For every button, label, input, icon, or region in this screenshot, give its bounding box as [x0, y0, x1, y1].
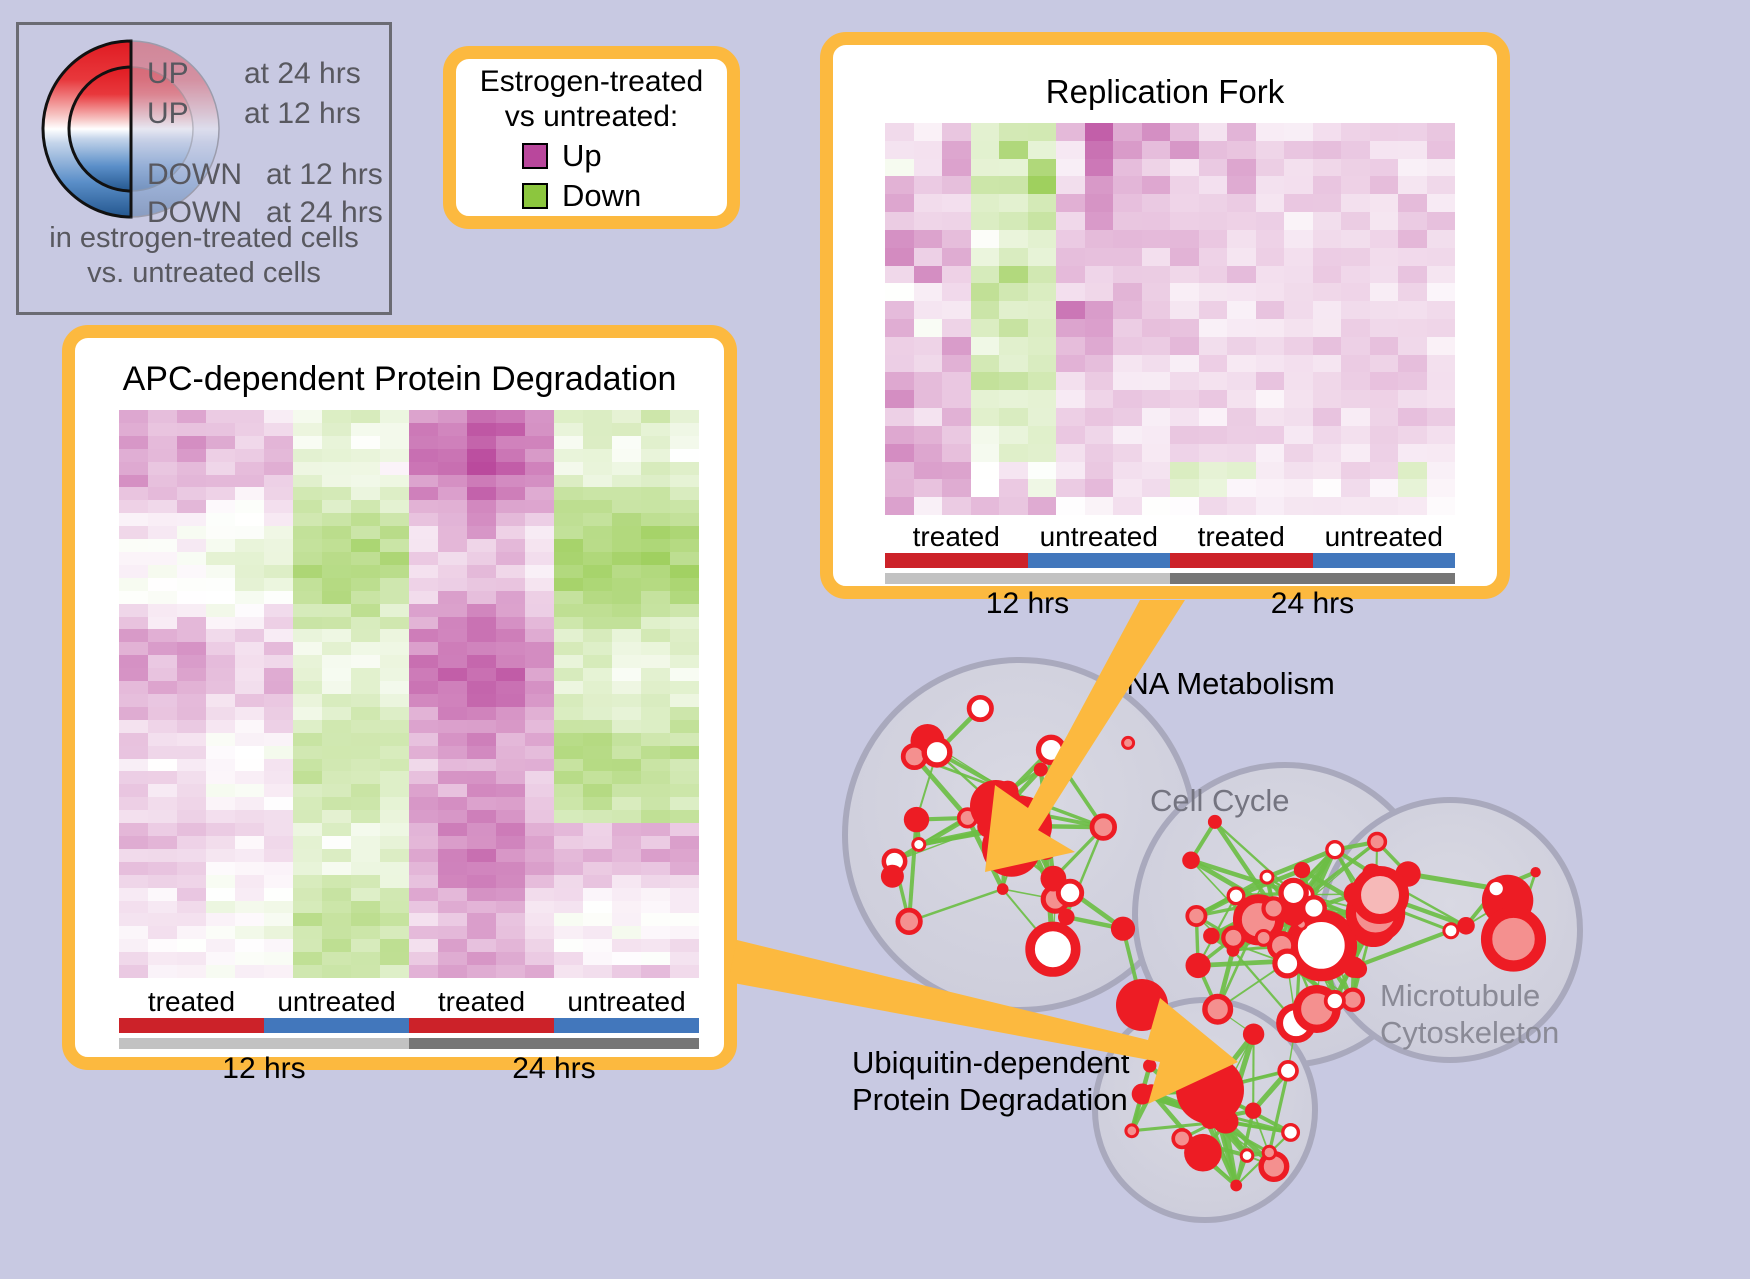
- up-color-swatch: [522, 143, 548, 169]
- down-color-swatch: [522, 183, 548, 209]
- ub-label-line2: Protein Degradation: [852, 1082, 1130, 1119]
- apc-time-colorbar: [119, 1038, 699, 1049]
- apc-panel: APC-dependent Protein Degradation treate…: [62, 325, 737, 1070]
- key-label-down: Down: [562, 178, 641, 214]
- nested-circle-color-legend: [41, 39, 221, 219]
- key-item-down: Down: [522, 178, 641, 214]
- key-label-up: Up: [562, 138, 602, 174]
- apc-group-label-1: untreated: [264, 986, 409, 1018]
- cluster-label-ubiquitin-protein-degradation: Ubiquitin-dependent Protein Degradation: [852, 1045, 1130, 1118]
- rf-time-label-24: 24 hrs: [1170, 587, 1455, 621]
- rf-bar-untreated-24: [1313, 553, 1456, 568]
- apc-bar-treated-12: [119, 1018, 264, 1033]
- key-title-line2: vs untreated:: [480, 100, 703, 134]
- replication-fork-title: Replication Fork: [833, 73, 1497, 111]
- apc-bar-untreated-12: [264, 1018, 409, 1033]
- apc-column-annotation: treated untreated treated untreated 12 h…: [119, 986, 699, 1086]
- apc-bar-treated-24: [409, 1018, 554, 1033]
- rf-group-label-2: treated: [1170, 521, 1313, 553]
- mt-label-line2: Cytoskeleton: [1380, 1015, 1559, 1052]
- rf-time-label-12: 12 hrs: [885, 587, 1170, 621]
- apc-time-label-12: 12 hrs: [119, 1052, 409, 1086]
- color-scale-legend-box: UP at 24 hrs UP at 12 hrs DOWN at 12 hrs…: [16, 22, 392, 315]
- key-item-up: Up: [522, 138, 602, 174]
- mt-label-line1: Microtubule: [1380, 978, 1559, 1015]
- apc-group-labels: treated untreated treated untreated: [119, 986, 699, 1018]
- apc-group-label-0: treated: [119, 986, 264, 1018]
- cluster-label-dna-metabolism: DNA Metabolism: [1104, 666, 1335, 702]
- apc-group-label-3: untreated: [554, 986, 699, 1018]
- cluster-label-microtubule-cytoskeleton: Microtubule Cytoskeleton: [1380, 978, 1559, 1051]
- rf-bar-untreated-12: [1028, 553, 1171, 568]
- rf-group-label-0: treated: [885, 521, 1028, 553]
- pathway-network-graph: [790, 620, 1750, 1279]
- apc-time-label-24: 24 hrs: [409, 1052, 699, 1086]
- cluster-label-cell-cycle: Cell Cycle: [1150, 783, 1290, 819]
- legend-footer: in estrogen-treated cells vs. untreated …: [19, 221, 389, 292]
- apc-treatment-colorbar: [119, 1018, 699, 1033]
- replication-fork-heatmap: [885, 123, 1455, 515]
- apc-timebar-12: [119, 1038, 409, 1049]
- legend-term-down-12: DOWN: [147, 158, 242, 192]
- rf-group-labels: treated untreated treated untreated: [885, 521, 1455, 553]
- legend-term-up-12: UP: [147, 97, 189, 131]
- rf-bar-treated-24: [1170, 553, 1313, 568]
- key-title-line1: Estrogen-treated: [480, 65, 703, 99]
- legend-term-up-24: UP: [147, 57, 189, 91]
- apc-timebar-24: [409, 1038, 699, 1049]
- rf-timebar-24: [1170, 573, 1455, 584]
- legend-footer-line1: in estrogen-treated cells: [19, 221, 389, 256]
- apc-group-label-2: treated: [409, 986, 554, 1018]
- apc-title: APC-dependent Protein Degradation: [75, 360, 724, 399]
- key-panel-title: Estrogen-treated vs untreated:: [480, 65, 703, 133]
- rf-group-label-3: untreated: [1313, 521, 1456, 553]
- replication-fork-column-annotation: treated untreated treated untreated 12 h…: [885, 521, 1455, 621]
- rf-group-label-1: untreated: [1028, 521, 1171, 553]
- apc-bar-untreated-24: [554, 1018, 699, 1033]
- rf-time-labels: 12 hrs 24 hrs: [885, 587, 1455, 621]
- legend-time-up-24: at 24 hrs: [244, 57, 361, 91]
- apc-time-labels: 12 hrs 24 hrs: [119, 1052, 699, 1086]
- replication-fork-panel: Replication Fork treated untreated treat…: [820, 32, 1510, 599]
- apc-heatmap: [119, 410, 699, 978]
- legend-footer-line2: vs. untreated cells: [19, 256, 389, 291]
- rf-timebar-12: [885, 573, 1170, 584]
- ub-label-line1: Ubiquitin-dependent: [852, 1045, 1130, 1082]
- rf-treatment-colorbar: [885, 553, 1455, 568]
- legend-time-down-12: at 12 hrs: [266, 158, 383, 192]
- legend-time-up-12: at 12 hrs: [244, 97, 361, 131]
- rf-bar-treated-12: [885, 553, 1028, 568]
- rf-time-colorbar: [885, 573, 1455, 584]
- estrogen-key-panel: Estrogen-treated vs untreated: Up Down: [443, 46, 740, 229]
